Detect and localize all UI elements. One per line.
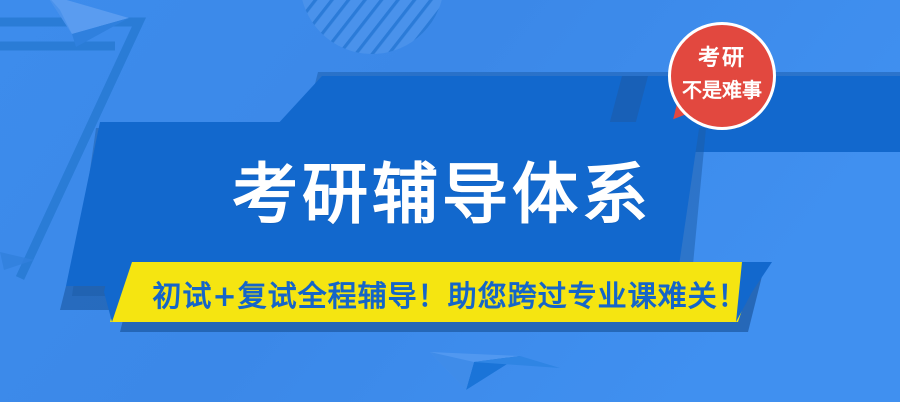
speech-bubble-line-1: 考研 (668, 48, 776, 70)
speech-bubble-badge: 考研 不是难事 (668, 22, 776, 130)
speech-bubble-circle (668, 22, 776, 130)
ribbon-subtitle: 初试+复试全程辅导！助您跨过专业课难关！ (150, 272, 750, 316)
promo-banner: 考研辅导体系 初试+复试全程辅导！助您跨过专业课难关！ 考研 不是难事 (0, 0, 900, 402)
main-title-container: 考研辅导体系 (232, 152, 702, 238)
speech-bubble-line-2: 不是难事 (668, 80, 776, 100)
page-title: 考研辅导体系 (232, 162, 652, 228)
